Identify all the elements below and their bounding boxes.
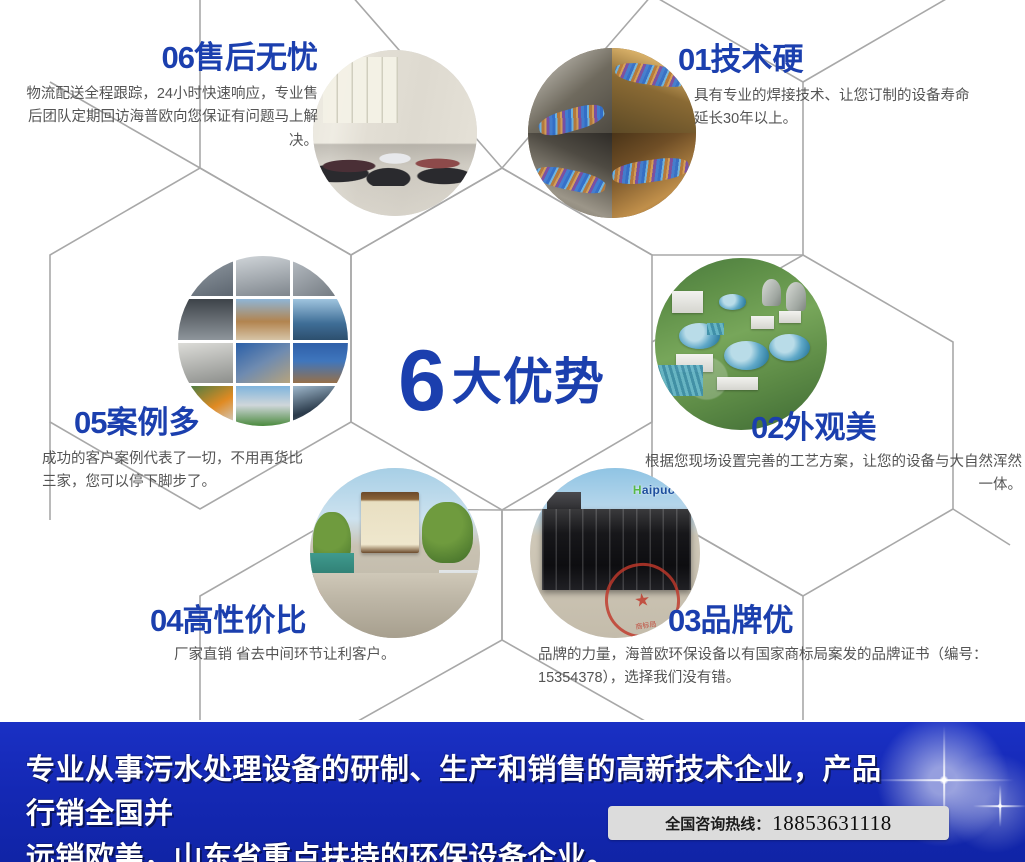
hotline-label: 全国咨询热线： xyxy=(665,813,770,834)
banner-line-2: 远销欧美，山东省重点扶持的环保设备企业。 xyxy=(26,836,896,862)
feature-block-06: 06售后无忧 物流配送全程跟踪，24小时快速响应，专业售后团队定期回访海普欧向您… xyxy=(18,42,318,153)
feature-block-03: 03品牌优 品牌的力量，海普欧环保设备以有国家商标局案发的品牌证书（编号：153… xyxy=(538,605,1000,691)
infographic-root: Haipuou ★ 商标局 xyxy=(0,0,1025,862)
feature-image-06 xyxy=(313,50,477,216)
feature-block-02: 02外观美 根据您现场设置完善的工艺方案，让您的设备与大自然浑然一体。 xyxy=(640,412,1022,498)
feature-title-01: 01技术硬 xyxy=(678,44,978,75)
feature-title-03: 03品牌优 xyxy=(538,605,1000,636)
feature-image-01 xyxy=(528,48,696,218)
feature-block-01: 01技术硬 具有专业的焊接技术、让您订制的设备寿命延长30年以上。 xyxy=(678,44,978,132)
feature-title-02: 02外观美 xyxy=(640,412,1022,443)
feature-image-05 xyxy=(178,256,348,426)
feature-image-02 xyxy=(655,258,827,430)
feature-block-04: 04高性价比 厂家直销 省去中间环节让利客户。 xyxy=(150,605,480,667)
feature-block-05: 05案例多 成功的客户案例代表了一切，不用再货比三家，您可以停下脚步了。 xyxy=(20,407,310,495)
feature-body-03: 品牌的力量，海普欧环保设备以有国家商标局案发的品牌证书（编号：15354378）… xyxy=(538,644,1000,691)
feature-title-04: 04高性价比 xyxy=(150,605,480,636)
bottom-banner: 专业从事污水处理设备的研制、生产和销售的高新技术企业，产品行销全国并 远销欧美，… xyxy=(0,722,1025,862)
feature-body-01: 具有专业的焊接技术、让您订制的设备寿命延长30年以上。 xyxy=(678,85,978,132)
feature-body-06: 物流配送全程跟踪，24小时快速响应，专业售后团队定期回访海普欧向您保证有问题马上… xyxy=(18,83,318,153)
feature-title-06: 06售后无忧 xyxy=(18,42,318,73)
banner-text: 专业从事污水处理设备的研制、生产和销售的高新技术企业，产品行销全国并 远销欧美，… xyxy=(26,748,896,862)
hotline-number: 18853631118 xyxy=(772,811,891,836)
feature-body-04: 厂家直销 省去中间环节让利客户。 xyxy=(150,644,480,667)
feature-title-05: 05案例多 xyxy=(20,407,310,438)
feature-body-02: 根据您现场设置完善的工艺方案，让您的设备与大自然浑然一体。 xyxy=(640,451,1022,498)
feature-body-05: 成功的客户案例代表了一切，不用再货比三家，您可以停下脚步了。 xyxy=(20,448,310,495)
hotline-box[interactable]: 全国咨询热线： 18853631118 xyxy=(608,806,949,840)
